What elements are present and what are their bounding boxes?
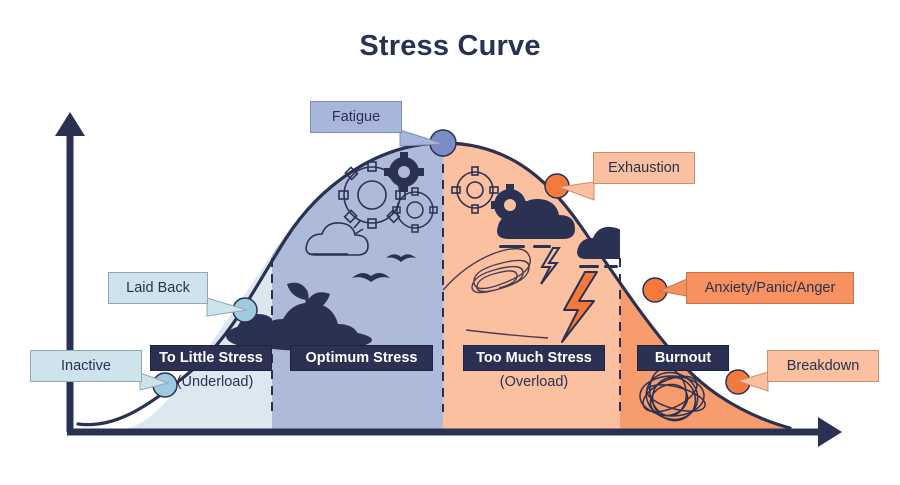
callout-fatigue[interactable]: Fatigue	[310, 101, 402, 133]
zone-badge-optimum: Optimum Stress	[290, 345, 433, 371]
callout-anxiety-panic-anger[interactable]: Anxiety/Panic/Anger	[686, 272, 854, 304]
stress-level-axis	[55, 112, 85, 432]
stress-curve-diagram: Stress Curve	[0, 0, 900, 485]
zone-badge-overload: Too Much Stress	[463, 345, 605, 371]
diagram-canvas	[0, 0, 900, 485]
callout-inactive[interactable]: Inactive	[30, 350, 142, 382]
zone-sublabel-underload: (Underload)	[150, 374, 280, 390]
callout-exhaustion[interactable]: Exhaustion	[593, 152, 695, 184]
callout-laid-back[interactable]: Laid Back	[108, 272, 208, 304]
zone-badge-burnout: Burnout	[637, 345, 729, 371]
zone-badge-underload: To Little Stress	[150, 345, 272, 371]
callout-breakdown[interactable]: Breakdown	[767, 350, 879, 382]
zone-fill-optimum	[272, 100, 443, 440]
zone-sublabel-overload-text: (Overload)	[463, 374, 605, 390]
